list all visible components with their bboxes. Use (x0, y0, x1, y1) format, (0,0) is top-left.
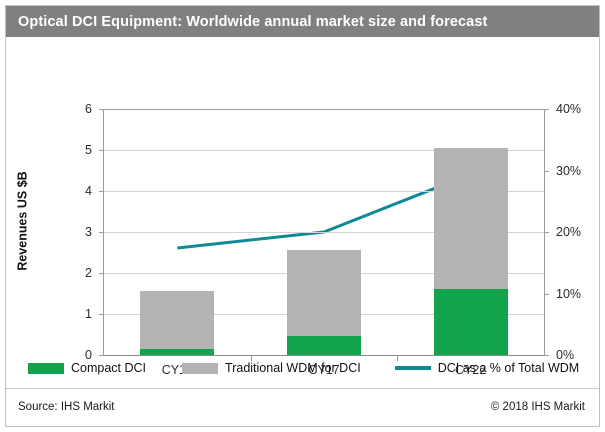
y-axis-tick-label: 3 (58, 225, 92, 239)
footer: Source: IHS Markit © 2018 IHS Markit (6, 392, 599, 422)
chart-legend: Compact DCI Traditional WDM for DCI DCI … (6, 352, 599, 384)
legend-item-dci-percent[interactable]: DCI as a % of Total WDM (395, 361, 579, 375)
y-axis-tick-label: 4 (58, 184, 92, 198)
plot-area (104, 109, 544, 355)
y2-axis-tick-label: 10% (556, 287, 581, 301)
footer-copyright: © 2018 IHS Markit (491, 401, 585, 413)
chart-title: Optical DCI Equipment: Worldwide annual … (6, 14, 487, 30)
legend-item-compact-dci[interactable]: Compact DCI (28, 361, 146, 375)
bar-segment[interactable] (287, 250, 361, 336)
y-axis-tick-label: 5 (58, 143, 92, 157)
y2-axis-tick-label: 40% (556, 102, 581, 116)
footer-source: Source: IHS Markit (18, 401, 115, 413)
bar-segment[interactable] (140, 291, 214, 348)
y2-axis-spine (544, 109, 545, 355)
legend-swatch-traditional-wdm (182, 363, 218, 374)
y-axis-title-text: Revenues US $B (16, 171, 30, 270)
legend-label-dci-percent: DCI as a % of Total WDM (438, 361, 579, 375)
y2-axis-tick-label: 20% (556, 225, 581, 239)
legend-item-traditional-wdm[interactable]: Traditional WDM for DCI (182, 361, 361, 375)
y-axis-tick-label: 2 (58, 266, 92, 280)
legend-swatch-compact-dci (28, 363, 64, 374)
footer-divider (6, 388, 599, 389)
chart-figure: Optical DCI Equipment: Worldwide annual … (0, 0, 605, 432)
legend-label-traditional-wdm: Traditional WDM for DCI (225, 361, 361, 375)
gridline (104, 109, 544, 110)
bar-segment[interactable] (434, 148, 508, 289)
y2-axis-tick-label: 30% (556, 164, 581, 178)
y-axis-tick-label: 6 (58, 102, 92, 116)
legend-label-compact-dci: Compact DCI (71, 361, 146, 375)
plot-wrapper: Revenues US $B 01234560%10%20%30%40%CY16… (6, 37, 599, 347)
bar-segment[interactable] (434, 289, 508, 355)
line-series-path[interactable] (177, 174, 470, 248)
legend-swatch-dci-percent (395, 366, 431, 370)
y-axis-tick-label: 1 (58, 307, 92, 321)
y-axis-spine (103, 109, 104, 355)
title-bar: Optical DCI Equipment: Worldwide annual … (6, 6, 599, 37)
y-axis-title: Revenues US $B (12, 141, 34, 301)
